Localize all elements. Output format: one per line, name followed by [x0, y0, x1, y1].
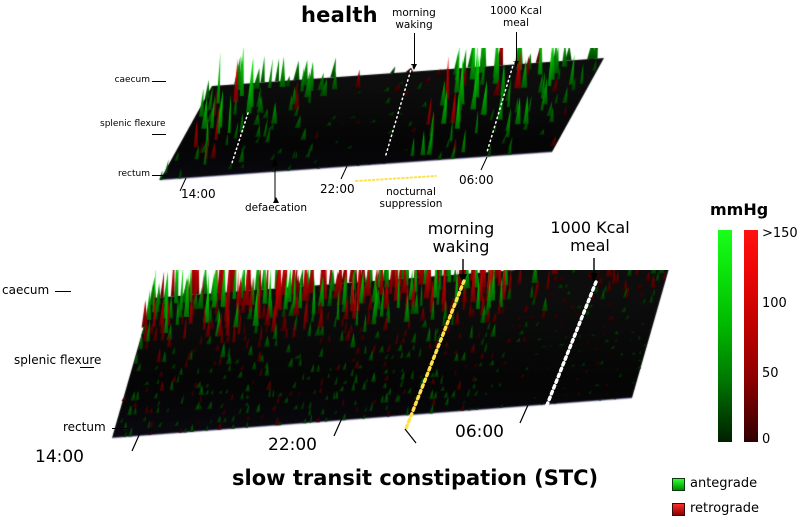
colorbar-tick-150: >150	[762, 226, 798, 241]
colorbar-tick-0: 0	[762, 432, 770, 447]
panel-health: health caecum splenic flexure rectum 14:…	[0, 0, 660, 215]
panel-stc: caecum splenic flexure rectum 14:00 22:0…	[0, 215, 700, 527]
event-marker-line	[0, 0, 660, 215]
colorbar-antegrade-gradient	[718, 230, 732, 442]
colorbar-title: mmHg	[710, 200, 768, 219]
legend-swatch-antegrade	[672, 478, 685, 491]
colorbar: mmHg >150 100 50 0	[700, 200, 805, 500]
colorbar-tick-100: 100	[762, 296, 787, 311]
colorbar-retrograde-gradient	[744, 230, 758, 442]
colorbar-tick-50: 50	[762, 366, 779, 381]
legend-key: antegrade retrograde	[672, 476, 805, 524]
legend-label-retrograde: retrograde	[690, 501, 759, 516]
stc-waking-leader	[0, 215, 700, 527]
legend-swatch-retrograde	[672, 503, 685, 516]
legend-label-antegrade: antegrade	[690, 476, 757, 491]
